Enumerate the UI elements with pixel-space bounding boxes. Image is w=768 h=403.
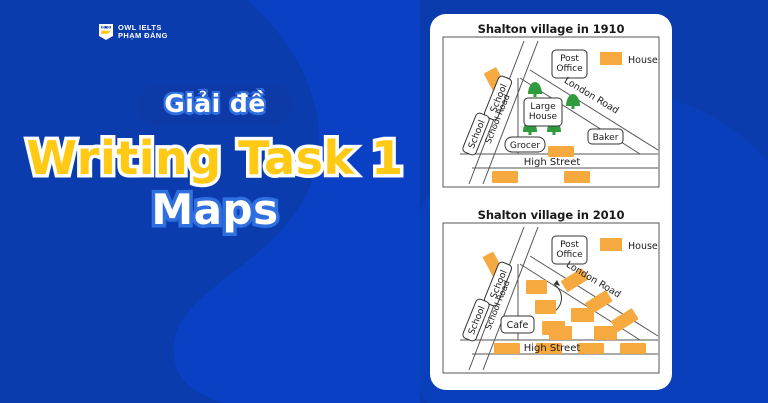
map-1910-figure: Post Office Large House Grocer Baker Sch… [442, 36, 660, 188]
svg-text:Baker: Baker [593, 133, 619, 143]
svg-text:Large: Large [530, 102, 556, 112]
legend-2010: House [600, 238, 658, 252]
brand-line-2: PHẠM ĐÁNG [118, 32, 168, 40]
legend-1910: House [600, 52, 658, 66]
owl-logo-icon [98, 23, 114, 41]
brand-logo-text: OWL IELTS PHẠM ĐÁNG [118, 24, 168, 40]
svg-text:Post: Post [560, 54, 579, 64]
svg-text:House: House [628, 55, 658, 66]
house-swatch-icon [600, 238, 622, 251]
maps-card: Shalton village in 1910 [430, 14, 672, 390]
map-1910-title: Shalton village in 1910 [430, 22, 672, 36]
road-label-high-street: High Street [524, 343, 581, 354]
page-subtitle: Maps [151, 189, 278, 231]
house-swatch-icon [600, 52, 622, 65]
svg-text:Post: Post [560, 240, 579, 250]
headline-block: Giải đề Writing Task 1 Maps [0, 85, 430, 231]
road-label-high-street: High Street [524, 157, 581, 168]
map-2010: Shalton village in 2010 [430, 208, 672, 374]
map-2010-figure: Post Office Cafe School School School Ro… [442, 222, 660, 374]
svg-text:Office: Office [556, 64, 583, 74]
eyebrow-pill: Giải đề [138, 85, 292, 125]
svg-text:Grocer: Grocer [510, 141, 540, 151]
map-1910: Shalton village in 1910 [430, 22, 672, 188]
eyebrow-text: Giải đề [164, 91, 266, 116]
svg-text:House: House [628, 241, 658, 252]
slide-canvas: OWL IELTS PHẠM ĐÁNG Giải đề Writing Task… [0, 0, 768, 403]
brand-logo: OWL IELTS PHẠM ĐÁNG [98, 23, 168, 41]
svg-text:Cafe: Cafe [507, 320, 529, 331]
map-2010-title: Shalton village in 2010 [430, 208, 672, 222]
svg-text:House: House [529, 112, 558, 122]
page-title: Writing Task 1 [26, 135, 403, 181]
